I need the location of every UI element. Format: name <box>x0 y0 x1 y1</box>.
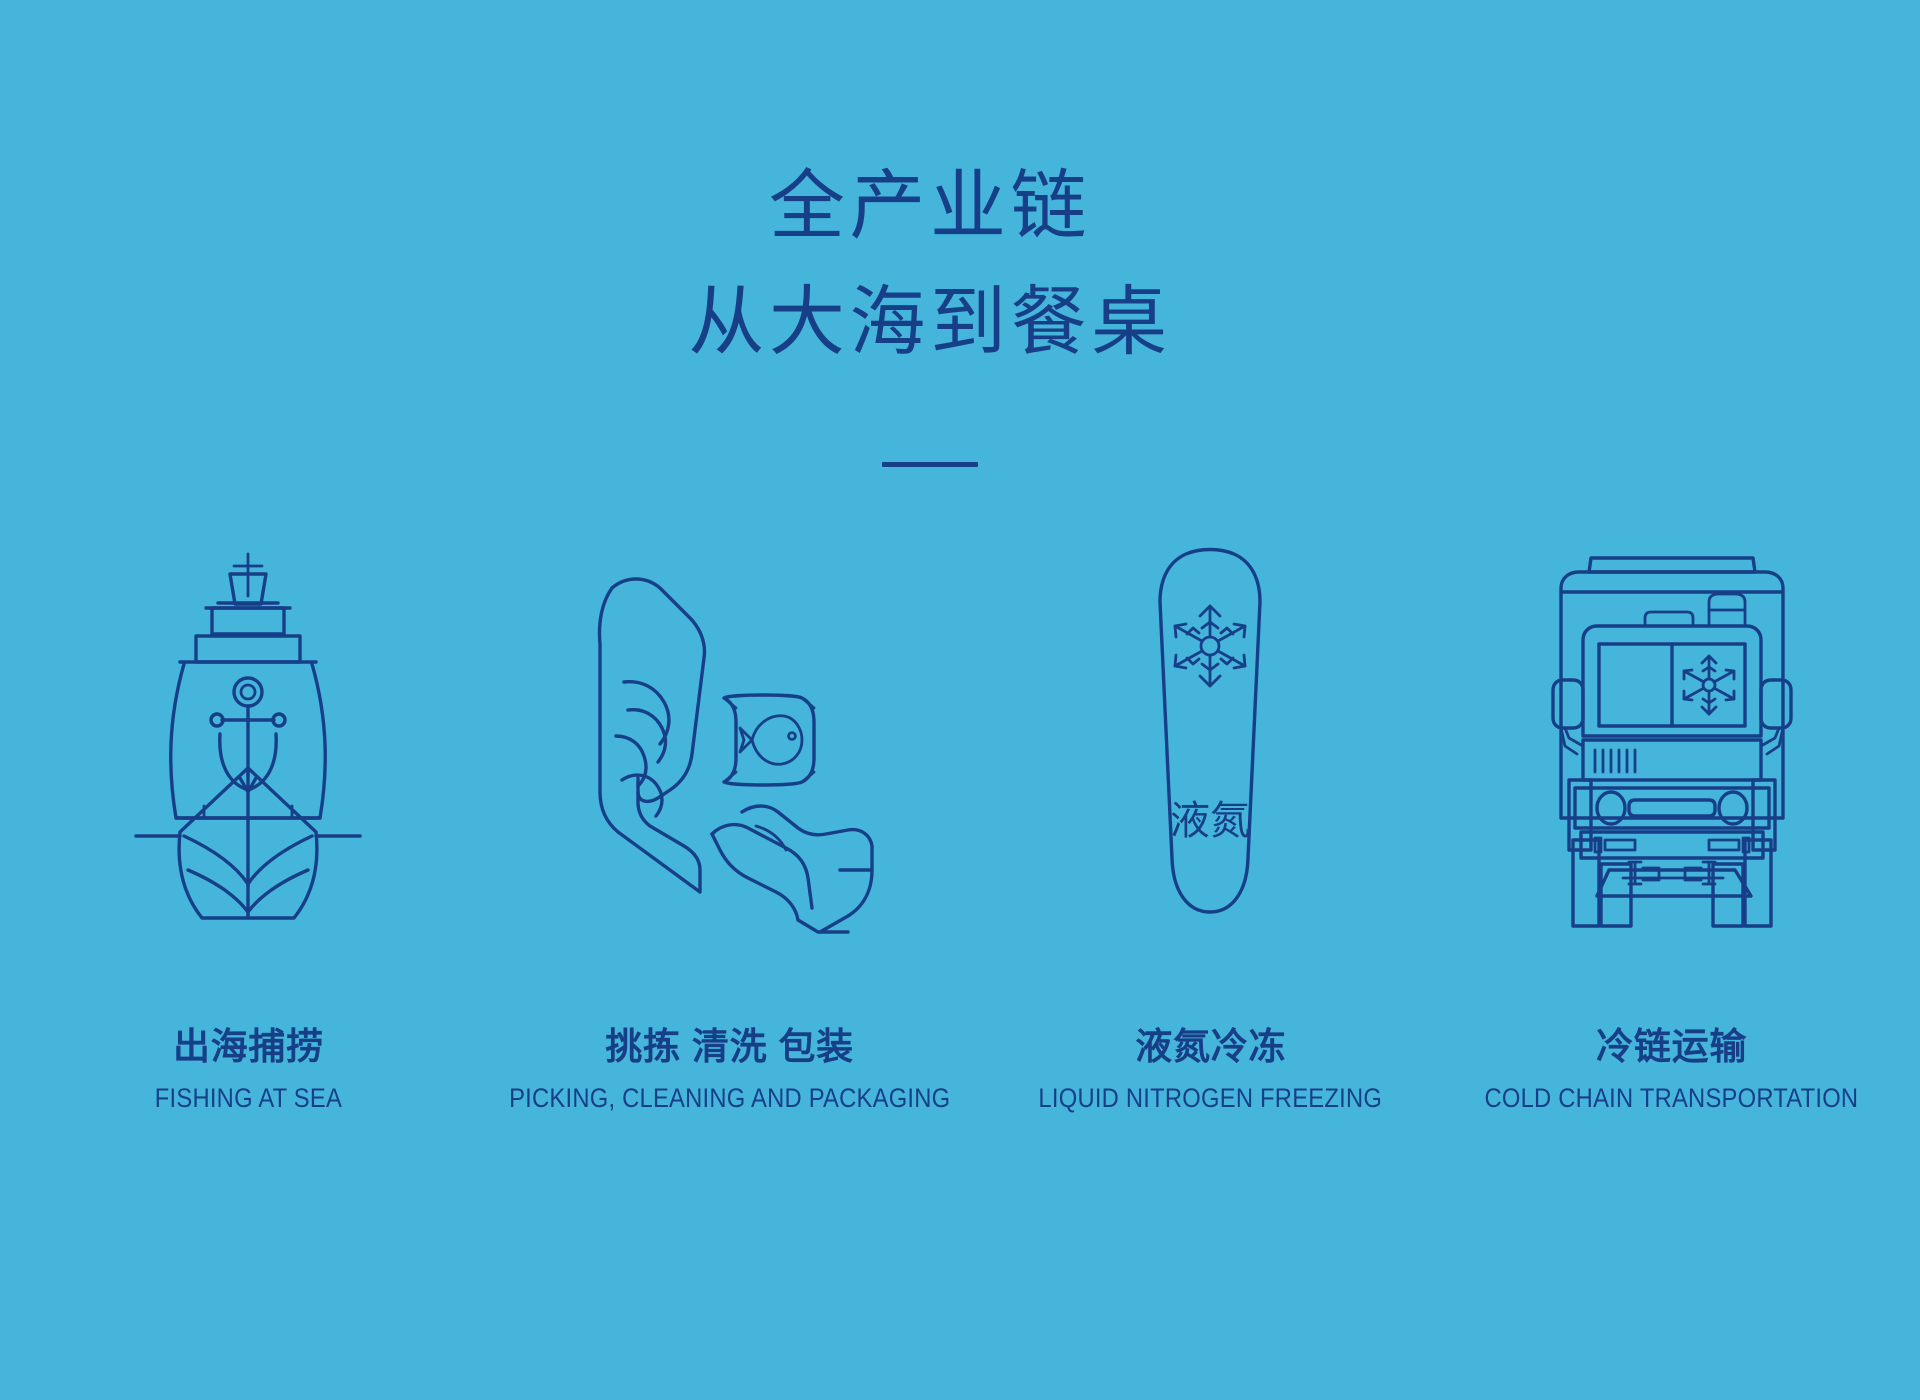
page-title-line-2: 从大海到餐桌 <box>0 284 1860 360</box>
heading-divider <box>882 462 978 467</box>
step-title-cn: 出海捕捞 <box>142 1026 355 1069</box>
grille-slats-icon <box>1595 750 1635 772</box>
process-step-liquid-nitrogen-freezing: 液氮 液氮冷冻 LIQUID NITROGEN FREEZING <box>980 520 1441 1114</box>
step-title-cn: 挑拣 清洗 包装 <box>479 1026 980 1069</box>
step-title-en: PICKING, CLEANING AND PACKAGING <box>509 1083 950 1114</box>
step-title-en: FISHING AT SEA <box>155 1083 342 1114</box>
snowflake-icon <box>1175 606 1245 686</box>
step-title-en: COLD CHAIN TRANSPORTATION <box>1485 1083 1859 1114</box>
process-step-row: 出海捕捞 FISHING AT SEA <box>0 520 1920 1114</box>
step-label-group: 出海捕捞 FISHING AT SEA <box>142 1026 355 1114</box>
step-icon-wrap: 液氮 <box>1126 520 1296 940</box>
step-label-group: 液氮冷冻 LIQUID NITROGEN FREEZING <box>1015 1026 1406 1114</box>
process-step-cold-chain-transportation: 冷链运输 COLD CHAIN TRANSPORTATION <box>1441 520 1902 1114</box>
page-heading: 全产业链 从大海到餐桌 <box>0 168 1860 360</box>
snowflake-icon <box>1684 656 1734 714</box>
infographic-canvas: 全产业链 从大海到餐桌 <box>0 0 1920 1400</box>
fishing-boat-front-with-anchor-icon <box>118 540 378 940</box>
heading-divider-wrap <box>0 456 1860 474</box>
step-title-cn: 液氮冷冻 <box>1015 1026 1406 1069</box>
page-title-line-1: 全产业链 <box>0 168 1860 244</box>
two-hands-with-packaged-fish-icon <box>580 540 880 940</box>
step-title-en: LIQUID NITROGEN FREEZING <box>1039 1083 1383 1114</box>
step-icon-wrap <box>580 520 880 940</box>
process-step-picking-cleaning-packaging: 挑拣 清洗 包装 PICKING, CLEANING AND PACKAGING <box>479 520 980 1114</box>
refrigerated-truck-front-icon <box>1539 540 1805 940</box>
step-label-group: 冷链运输 COLD CHAIN TRANSPORTATION <box>1459 1026 1884 1114</box>
step-icon-wrap <box>1539 520 1805 940</box>
step-title-cn: 冷链运输 <box>1459 1026 1884 1069</box>
step-icon-wrap <box>118 520 378 940</box>
step-label-group: 挑拣 清洗 包装 PICKING, CLEANING AND PACKAGING <box>479 1026 980 1114</box>
liquid-nitrogen-tank-snowflake-icon: 液氮 <box>1126 540 1296 940</box>
process-step-fishing-at-sea: 出海捕捞 FISHING AT SEA <box>18 520 479 1114</box>
tank-caption: 液氮 <box>1170 799 1250 843</box>
